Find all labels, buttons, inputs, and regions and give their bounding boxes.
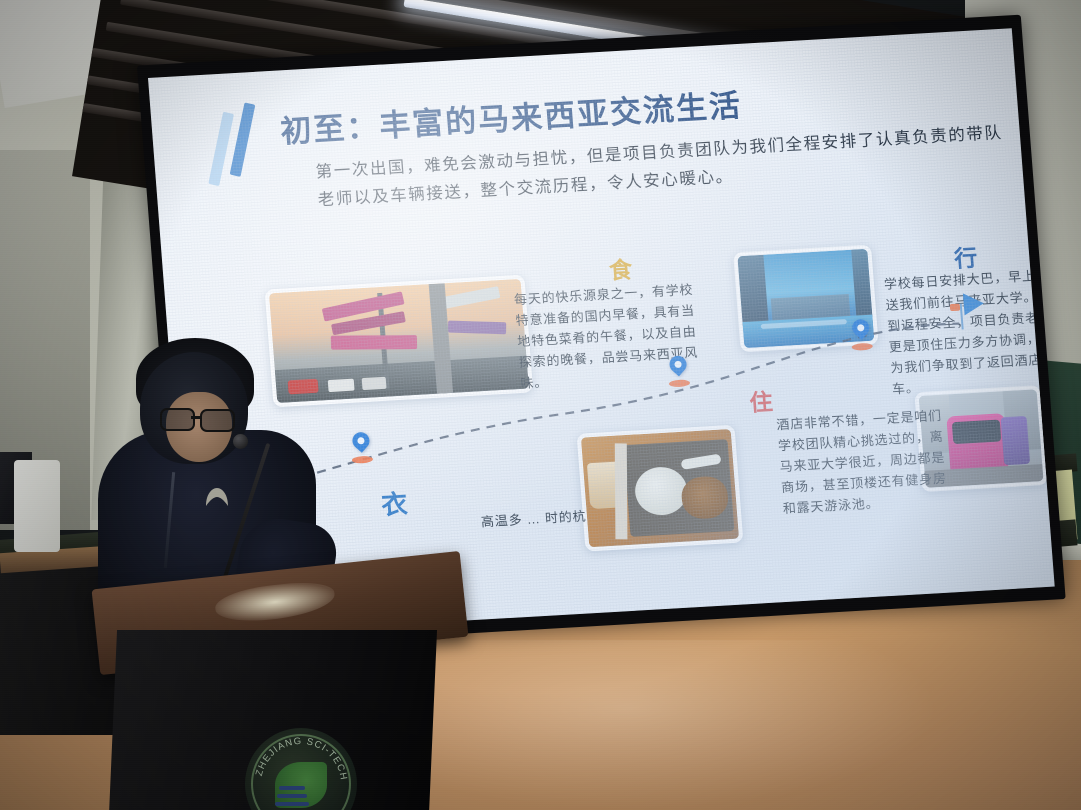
university-emblem: ZHEJIANG SCI-TECH UNIVERSITY [245, 728, 357, 810]
photo-scene: 初至：丰富的马来西亚交流生活 第一次出国，难免会激动与担忧，但是项目负责团队为我… [0, 0, 1081, 810]
microphone-icon[interactable] [233, 434, 248, 449]
glasses-icon [160, 408, 240, 427]
floor-reflection [420, 640, 940, 810]
water-dispenser [14, 460, 60, 552]
jacket-brand-logo [203, 486, 231, 508]
